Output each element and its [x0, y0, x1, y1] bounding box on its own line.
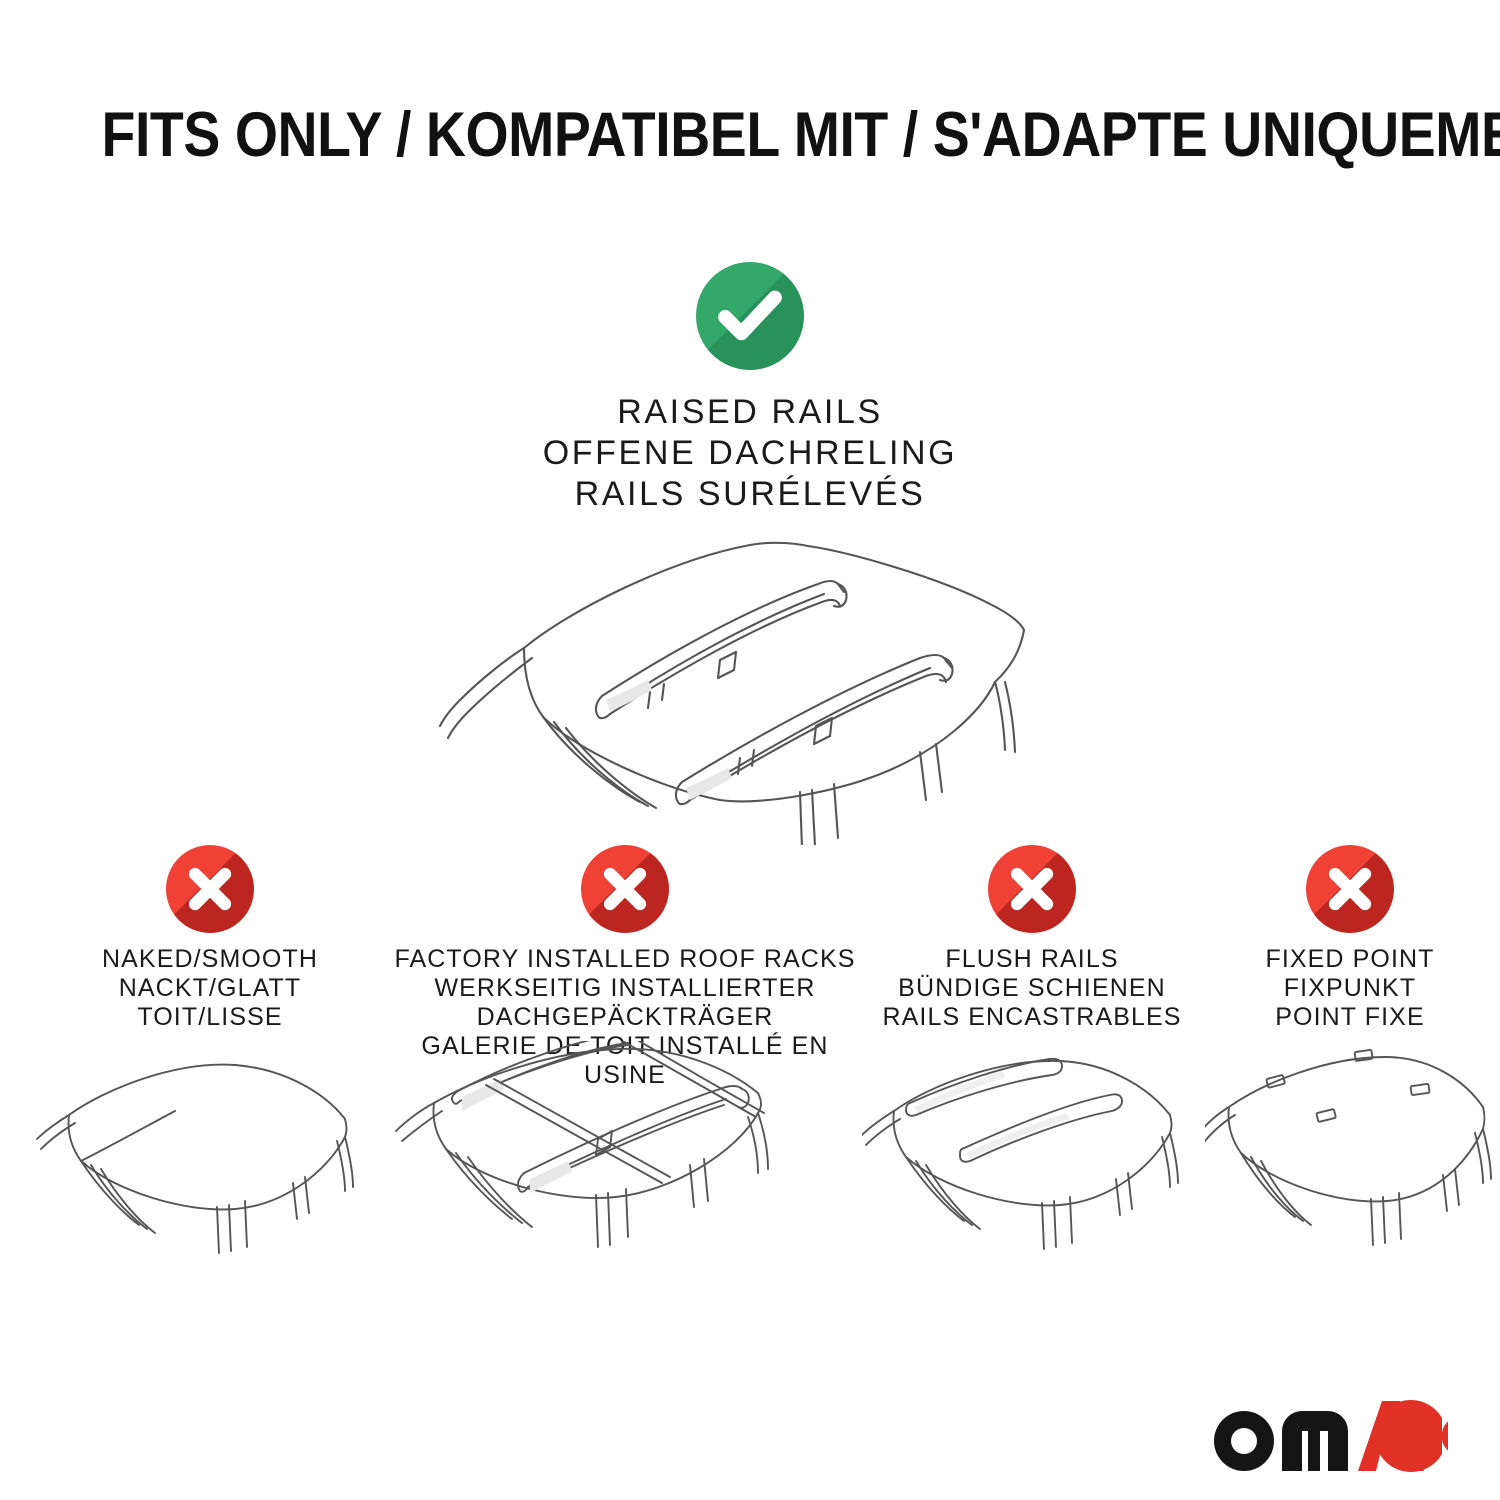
caption-line-3: DACHGEPÄCKTRÄGER	[390, 1003, 860, 1032]
caption-line-1: FIXED POINT	[1205, 945, 1495, 974]
caption-line-1: FACTORY INSTALLED ROOF RACKS	[390, 945, 860, 974]
caption-line-2: WERKSEITIG INSTALLIERTER	[390, 974, 860, 1003]
page-header: FITS ONLY / KOMPATIBEL MIT / S'ADAPTE UN…	[0, 104, 1500, 167]
x-circle-icon	[581, 845, 669, 933]
caption-line-2: BÜNDIGE SCHIENEN	[862, 974, 1202, 1003]
logo-letter-o	[1214, 1411, 1274, 1471]
car-roof-naked-smooth-illustration	[35, 1041, 385, 1256]
logo-letter-m	[1282, 1411, 1348, 1471]
incompatible-caption-4: FIXED POINT FIXPUNKT POINT FIXE	[1205, 945, 1495, 1032]
logo-letter-c	[1375, 1400, 1448, 1472]
caption-line-3: POINT FIXE	[1205, 1003, 1495, 1032]
check-circle-icon	[696, 262, 804, 370]
car-roof-factory-roof-racks-illustration	[390, 1041, 860, 1256]
compatible-badge	[696, 262, 804, 370]
incompatible-column-factory-racks: FACTORY INSTALLED ROOF RACKS WERKSEITIG …	[390, 845, 860, 1090]
incompatible-column-flush-rails: FLUSH RAILS BÜNDIGE SCHIENEN RAILS ENCAS…	[862, 845, 1202, 1032]
caption-line-3: TOIT/LISSE	[35, 1003, 385, 1032]
car-roof-fixed-point-illustration	[1205, 1041, 1495, 1256]
compatible-line-1: RAISED RAILS	[0, 392, 1500, 433]
caption-line-1: NAKED/SMOOTH	[35, 945, 385, 974]
compatible-block: RAISED RAILS OFFENE DACHRELING RAILS SUR…	[0, 262, 1500, 515]
caption-line-3: RAILS ENCASTRABLES	[862, 1003, 1202, 1032]
page-title: FITS ONLY / KOMPATIBEL MIT / S'ADAPTE UN…	[102, 104, 1500, 167]
car-roof-raised-rails-illustration	[420, 500, 1080, 845]
incompatible-column-fixed-point: FIXED POINT FIXPUNKT POINT FIXE	[1205, 845, 1495, 1032]
incompatible-badge-2	[581, 845, 669, 933]
incompatible-caption-3: FLUSH RAILS BÜNDIGE SCHIENEN RAILS ENCAS…	[862, 945, 1202, 1032]
incompatible-badge-3	[988, 845, 1076, 933]
compatible-caption: RAISED RAILS OFFENE DACHRELING RAILS SUR…	[0, 392, 1500, 515]
incompatible-column-naked-smooth: NAKED/SMOOTH NACKT/GLATT TOIT/LISSE	[35, 845, 385, 1032]
car-roof-flush-rails-illustration	[862, 1041, 1202, 1256]
caption-line-1: FLUSH RAILS	[862, 945, 1202, 974]
omac-logo	[1208, 1396, 1448, 1474]
caption-line-2: NACKT/GLATT	[35, 974, 385, 1003]
x-circle-icon	[1306, 845, 1394, 933]
incompatible-badge-4	[1306, 845, 1394, 933]
incompatible-row: NAKED/SMOOTH NACKT/GLATT TOIT/LISSE	[0, 845, 1500, 1295]
caption-line-2: FIXPUNKT	[1205, 974, 1495, 1003]
incompatible-caption-1: NAKED/SMOOTH NACKT/GLATT TOIT/LISSE	[35, 945, 385, 1032]
x-circle-icon	[166, 845, 254, 933]
x-circle-icon	[988, 845, 1076, 933]
fitment-infographic: FITS ONLY / KOMPATIBEL MIT / S'ADAPTE UN…	[0, 0, 1500, 1500]
incompatible-badge-1	[166, 845, 254, 933]
compatible-line-2: OFFENE DACHRELING	[0, 433, 1500, 474]
